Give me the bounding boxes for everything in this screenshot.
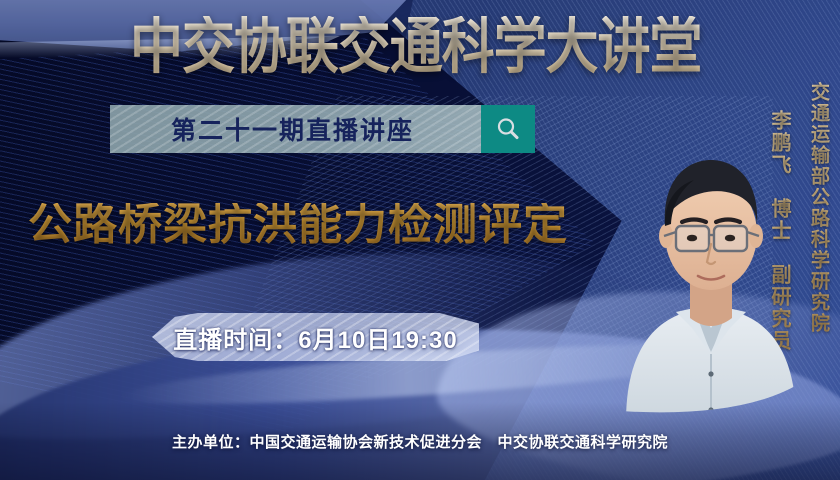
live-lecture-poster: 中交协联交通科学大讲堂 第二十一期直播讲座 公路桥梁抗洪能力检测评定 直播时间：…	[0, 0, 840, 480]
search-button[interactable]	[481, 105, 535, 153]
lecture-topic-headline: 公路桥梁抗洪能力检测评定	[28, 203, 568, 247]
live-time-badge: 直播时间：6月10日19:30	[152, 313, 479, 361]
organizer-footer: 主办单位：中国交通运输协会新技术促进分会 中交协联交通科学研究院	[0, 431, 840, 452]
live-time-label: 直播时间：6月10日19:30	[173, 320, 457, 355]
search-icon	[495, 116, 521, 142]
speaker-portrait	[606, 122, 816, 422]
session-subtitle-bar: 第二十一期直播讲座	[110, 105, 535, 153]
session-subtitle-label: 第二十一期直播讲座	[110, 111, 481, 147]
page-title: 中交协联交通科学大讲堂	[130, 16, 701, 77]
